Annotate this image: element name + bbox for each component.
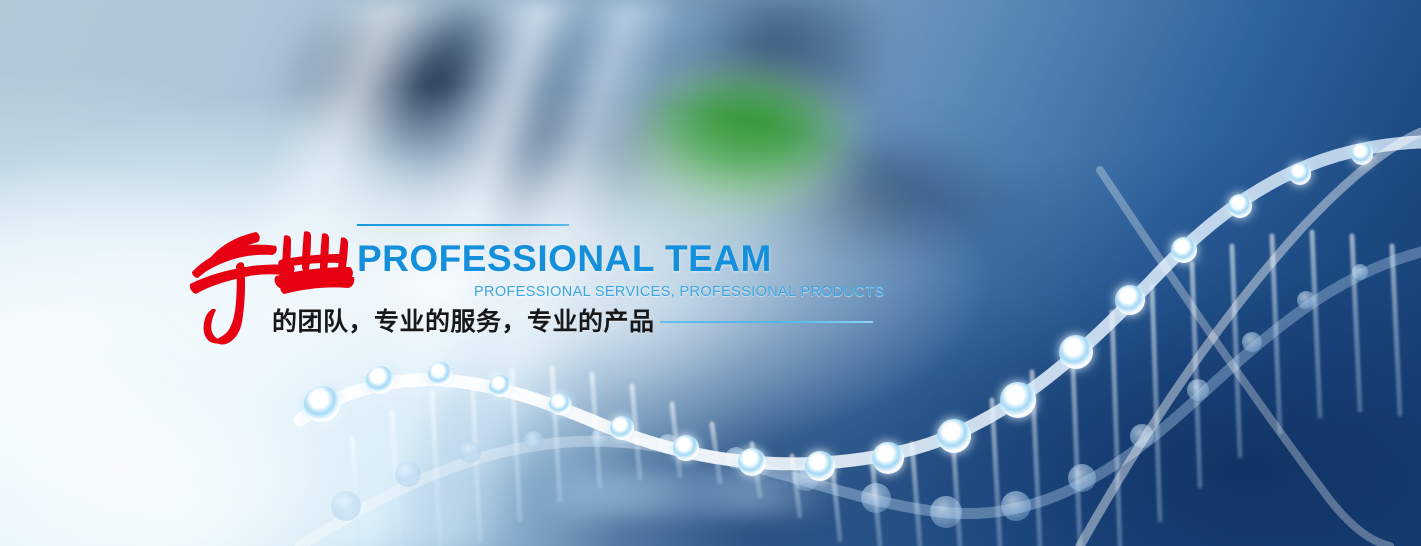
divider-line-bottom — [660, 321, 873, 323]
dna-rungs — [352, 232, 1400, 546]
calligraphy-zhuanye-icon — [186, 214, 356, 352]
dna-strand-front — [300, 142, 1421, 464]
dna-nodes-back — [331, 264, 1368, 528]
page-title: PROFESSIONAL TEAM — [357, 240, 772, 277]
banner-text-block: PROFESSIONAL TEAM PROFESSIONAL SERVICES,… — [0, 0, 1421, 546]
banner-subtitle: PROFESSIONAL SERVICES, PROFESSIONAL PROD… — [474, 285, 884, 300]
divider-line-top — [357, 224, 569, 226]
dna-strand-cross — [1080, 132, 1421, 546]
professional-team-banner: PROFESSIONAL TEAM PROFESSIONAL SERVICES,… — [0, 0, 1421, 546]
background-blurred-signage — [540, 470, 840, 516]
dna-strand-cross-mirror — [1100, 170, 1390, 546]
